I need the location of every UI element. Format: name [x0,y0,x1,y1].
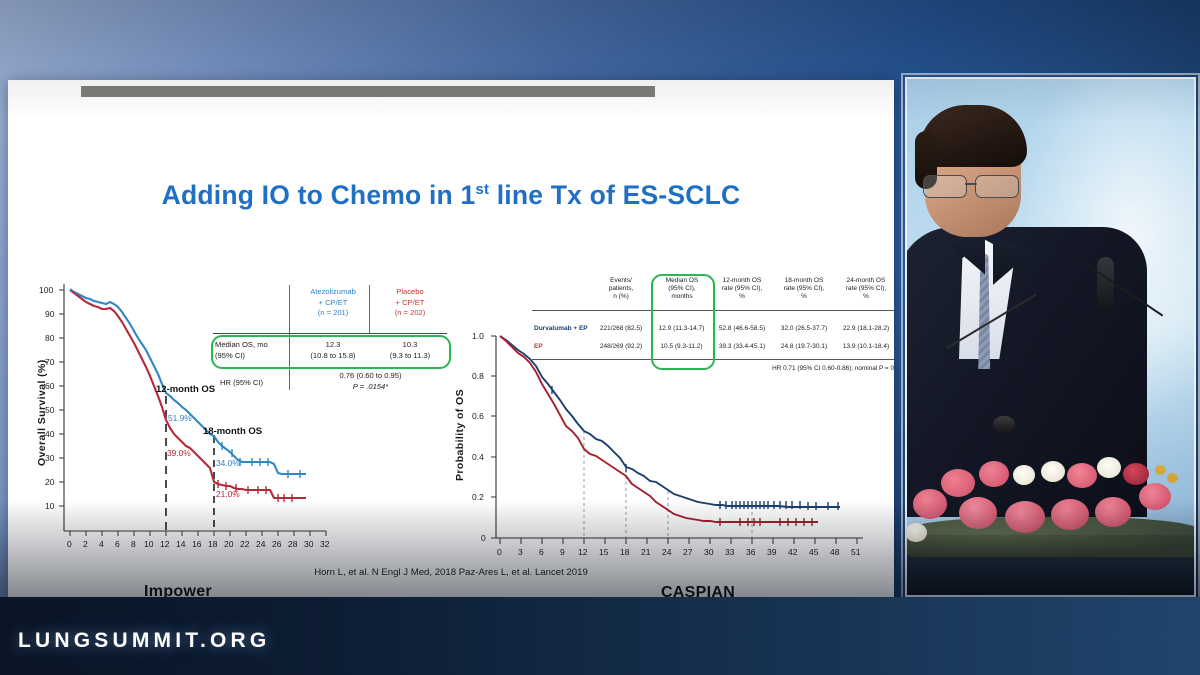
background-vignette [0,0,1200,675]
screen: Adding IO to Chemo in 1st line Tx of ES-… [0,0,1200,675]
footer-site-label: LUNGSUMMIT.ORG [18,629,270,653]
